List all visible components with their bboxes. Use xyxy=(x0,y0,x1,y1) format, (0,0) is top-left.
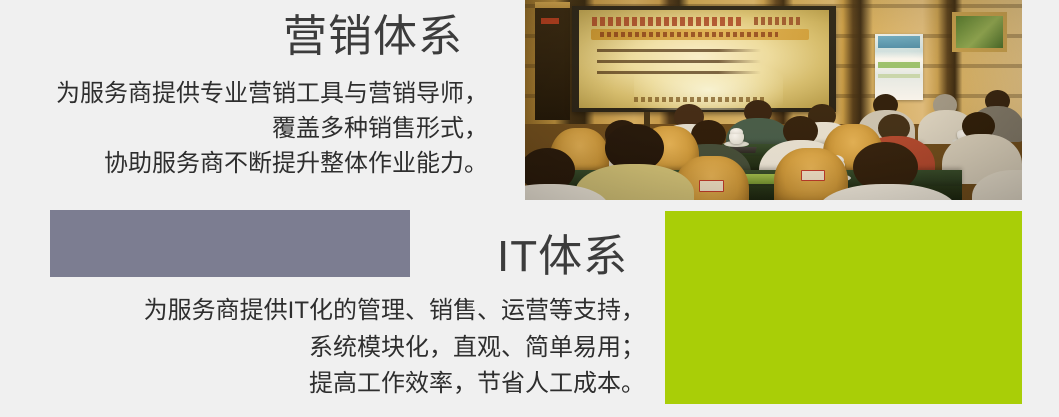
it-description-line-1: 为服务商提供IT化的管理、销售、运营等支持， xyxy=(0,299,645,323)
marketing-description-line-3: 协助服务商不断提升整体作业能力。 xyxy=(0,152,488,176)
it-description-line-3: 提高工作效率，节省人工成本。 xyxy=(0,372,645,396)
marketing-description-line-2: 覆盖多种销售形式， xyxy=(0,117,488,141)
wall-framed-picture xyxy=(952,12,1007,52)
slide-subtitle-text xyxy=(754,17,804,25)
slide-bullet-list xyxy=(597,46,761,74)
seminar-room-photo xyxy=(525,0,1022,200)
rollup-banner-header xyxy=(878,36,920,48)
wall-dark-column xyxy=(535,8,570,120)
purple-placeholder-block xyxy=(50,210,410,277)
chair-seat-number-tag xyxy=(699,180,724,192)
slide-title-text xyxy=(592,17,741,26)
chair-seat-number-tag xyxy=(801,170,825,181)
wall-red-marker xyxy=(541,18,559,24)
it-section-title: IT体系 xyxy=(497,234,628,280)
teacup-lid xyxy=(730,128,743,134)
slide-band-text xyxy=(600,32,779,37)
marketing-description-line-1: 为服务商提供专业营销工具与营销导师， xyxy=(0,82,488,106)
it-description-line-2: 系统模块化，直观、简单易用； xyxy=(0,336,645,360)
rollup-banner-band-2 xyxy=(878,74,920,78)
slide-footer-text xyxy=(634,97,763,102)
marketing-section-title: 营销体系 xyxy=(283,14,463,60)
rollup-banner-band xyxy=(878,62,920,68)
slide-canvas: 营销体系 为服务商提供专业营销工具与营销导师， 覆盖多种销售形式， 协助服务商不… xyxy=(0,0,1059,417)
green-placeholder-block xyxy=(665,211,1022,404)
